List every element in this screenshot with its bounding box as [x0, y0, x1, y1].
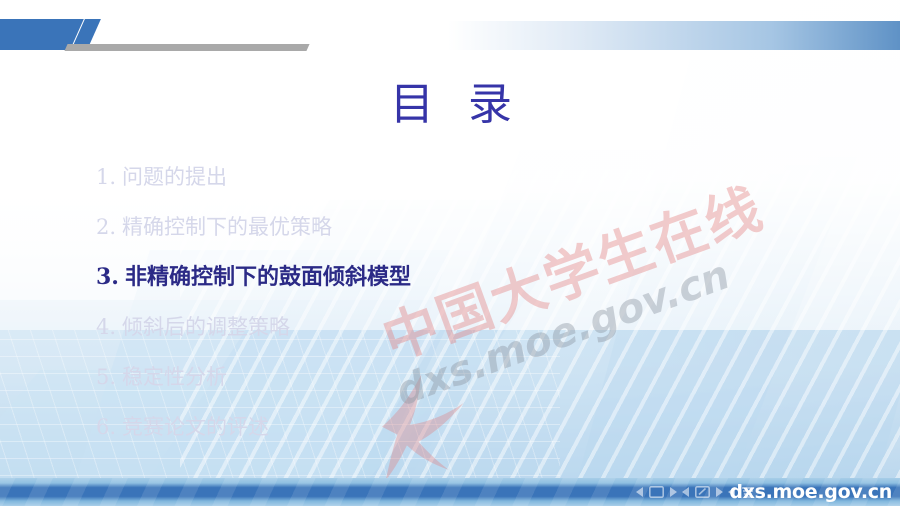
table-of-contents: 1.问题的提出 2.精确控制下的最优策略 3.非精确控制下的鼓面倾斜模型 4.倾… [96, 152, 616, 452]
toc-item-label: 问题的提出 [122, 165, 227, 189]
toc-item-2[interactable]: 2.精确控制下的最优策略 [96, 202, 616, 252]
toc-item-label: 精确控制下的最优策略 [122, 215, 332, 239]
bottom-bar-url: dxs.moe.gov.cn [729, 481, 892, 503]
next-arrow-icon[interactable] [715, 487, 723, 497]
toc-item-3[interactable]: 3.非精确控制下的鼓面倾斜模型 [96, 252, 616, 302]
page-title: 目 录 [390, 68, 522, 132]
toc-item-label: 非精确控制下的鼓面倾斜模型 [125, 264, 411, 290]
toc-item-number: 4. [96, 315, 116, 339]
accent-gray-bar [64, 44, 309, 51]
presentation-slide: 中国大学生在线 dxs.moe.gov.cn 目 录 1.问题的提出 2.精确控… [0, 0, 900, 506]
pen-box-icon[interactable] [695, 486, 710, 498]
toc-item-number: 5. [96, 365, 116, 389]
prev-arrow-icon[interactable] [636, 487, 644, 497]
toc-item-number: 6. [96, 415, 116, 439]
toc-item-label: 竞赛论文的评述 [122, 415, 269, 439]
accent-gradient-bar [448, 21, 900, 50]
toc-item-number: 1. [96, 165, 116, 189]
toc-item-number: 3. [96, 264, 119, 290]
slide-box-icon[interactable] [649, 486, 664, 498]
toc-item-6[interactable]: 6.竞赛论文的评述 [96, 402, 616, 452]
toc-item-label: 倾斜后的调整策略 [122, 315, 290, 339]
toc-item-1[interactable]: 1.问题的提出 [96, 152, 616, 202]
toc-item-label: 稳定性分析 [122, 365, 227, 389]
prev-arrow-icon[interactable] [682, 487, 690, 497]
toc-item-number: 2. [96, 215, 116, 239]
next-arrow-icon[interactable] [669, 487, 677, 497]
toc-item-5[interactable]: 5.稳定性分析 [96, 352, 616, 402]
toc-item-4[interactable]: 4.倾斜后的调整策略 [96, 302, 616, 352]
